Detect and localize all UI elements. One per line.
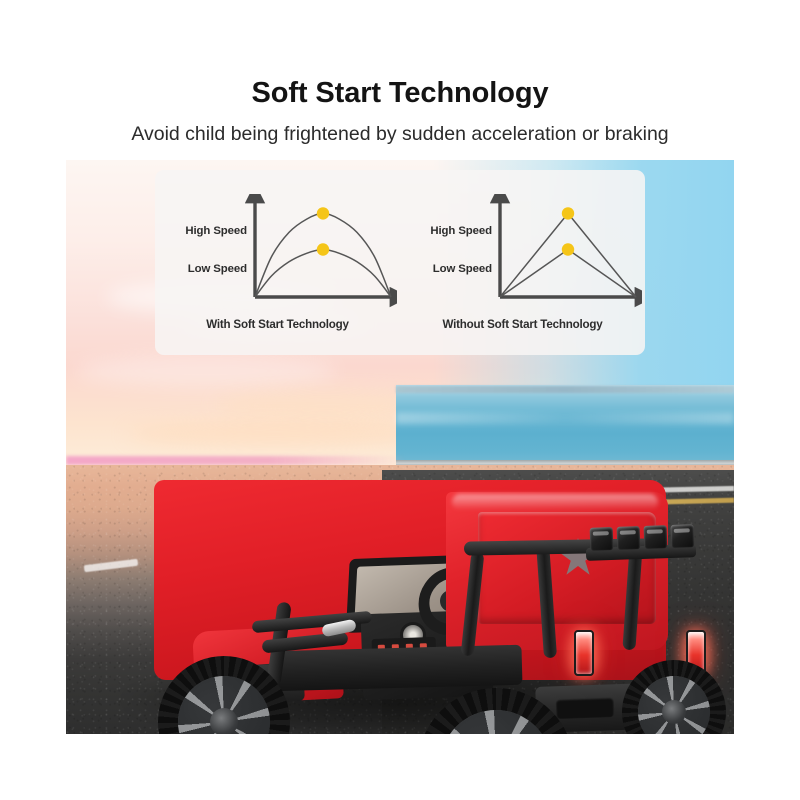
wheel-hub xyxy=(662,700,686,724)
chart-without-soft-start: High Speed Low Speed Without Soft Start … xyxy=(400,170,645,355)
plot-area-left xyxy=(237,194,397,309)
axis-labels: High Speed Low Speed xyxy=(406,226,492,276)
comparison-panel: High Speed Low Speed With Soft Start Tec… xyxy=(155,170,645,355)
led-light-bar xyxy=(590,524,695,552)
page-subtitle: Avoid child being frightened by sudden a… xyxy=(0,124,800,145)
bed-highlight xyxy=(452,494,658,510)
page-title: Soft Start Technology xyxy=(0,78,800,110)
taillight-left xyxy=(574,630,594,676)
axis-label-high-speed: High Speed xyxy=(161,226,247,237)
axis-label-low-speed: Low Speed xyxy=(406,264,492,275)
axis-labels: High Speed Low Speed xyxy=(161,226,247,276)
chart-with-soft-start: High Speed Low Speed With Soft Start Tec… xyxy=(155,170,400,355)
bumper-vent xyxy=(556,697,615,719)
axis-label-high-speed: High Speed xyxy=(406,226,492,237)
header: Soft Start Technology Avoid child being … xyxy=(0,0,800,145)
axis-label-low-speed: Low Speed xyxy=(161,264,247,275)
chart-caption-right: Without Soft Start Technology xyxy=(400,318,645,331)
running-board xyxy=(272,645,523,692)
chart-caption-left: With Soft Start Technology xyxy=(155,318,400,331)
plot-area-right xyxy=(482,194,642,309)
wheel-hub xyxy=(210,708,238,734)
